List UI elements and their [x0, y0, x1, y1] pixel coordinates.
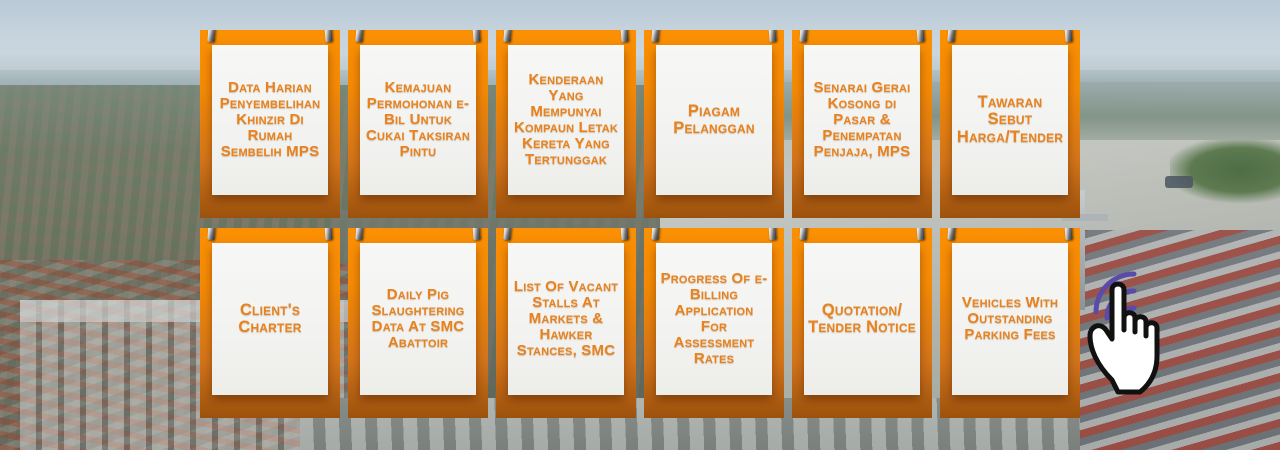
service-card-piagam-pelanggan[interactable]: Piagam Pelanggan [644, 30, 784, 218]
card-title: Tawaran Sebut Harga/Tender [956, 94, 1064, 146]
paper-clip-icon [355, 228, 363, 240]
paper-clip-icon [916, 30, 924, 42]
service-card-tawaran-sebut-harga-tender[interactable]: Tawaran Sebut Harga/Tender [940, 30, 1080, 218]
service-card-clients-charter[interactable]: Client's Charter [200, 228, 340, 418]
paper-clip-icon [1064, 228, 1072, 240]
card-paper: Senarai Gerai Kosong di Pasar & Penempat… [804, 45, 920, 195]
card-paper: Client's Charter [212, 243, 328, 395]
service-card-kemajuan-permohonan-ebil[interactable]: Kemajuan Permohonan e-Bil Untuk Cukai Ta… [348, 30, 488, 218]
paper-clip-icon [947, 228, 955, 240]
paper-clip-icon [768, 30, 776, 42]
card-title: Daily Pig Slaughtering Data At SMC Abatt… [364, 287, 472, 351]
paper-clip-icon [1064, 30, 1072, 42]
card-paper: Piagam Pelanggan [656, 45, 772, 195]
paper-clip-icon [651, 30, 659, 42]
background-boat [1165, 176, 1193, 188]
card-paper: Vehicles With Outstanding Parking Fees [952, 243, 1068, 395]
card-paper: Daily Pig Slaughtering Data At SMC Abatt… [360, 243, 476, 395]
card-title: Piagam Pelanggan [660, 103, 768, 138]
card-paper: Data Harian Penyembelihan Khinzir Di Rum… [212, 45, 328, 195]
service-card-daily-pig-slaughtering-data[interactable]: Daily Pig Slaughtering Data At SMC Abatt… [348, 228, 488, 418]
paper-clip-icon [472, 228, 480, 240]
paper-clip-icon [207, 228, 215, 240]
background-container-port [1060, 230, 1280, 450]
paper-clip-icon [916, 228, 924, 240]
paper-clip-icon [324, 228, 332, 240]
card-paper: Kemajuan Permohonan e-Bil Untuk Cukai Ta… [360, 45, 476, 195]
card-paper: List Of Vacant Stalls At Markets & Hawke… [508, 243, 624, 395]
service-card-kenderaan-kompaun-letak-kereta[interactable]: Kenderaan Yang Mempunyai Kompaun Letak K… [496, 30, 636, 218]
service-card-vehicles-with-outstanding-parking-fees[interactable]: Vehicles With Outstanding Parking Fees [940, 228, 1080, 418]
card-paper: Quotation/ Tender Notice [804, 243, 920, 395]
paper-clip-icon [620, 30, 628, 42]
paper-clip-icon [620, 228, 628, 240]
card-title: Vehicles With Outstanding Parking Fees [956, 295, 1064, 343]
paper-clip-icon [324, 30, 332, 42]
card-title: Progress Of e-Billing Application For As… [660, 271, 768, 366]
card-title: Client's Charter [216, 302, 324, 337]
card-paper: Progress Of e-Billing Application For As… [656, 243, 772, 395]
card-title: Senarai Gerai Kosong di Pasar & Penempat… [808, 80, 916, 159]
card-paper: Tawaran Sebut Harga/Tender [952, 45, 1068, 195]
service-card-data-harian-penyembelihan[interactable]: Data Harian Penyembelihan Khinzir Di Rum… [200, 30, 340, 218]
paper-clip-icon [799, 30, 807, 42]
service-card-senarai-gerai-kosong[interactable]: Senarai Gerai Kosong di Pasar & Penempat… [792, 30, 932, 218]
service-card-list-of-vacant-stalls[interactable]: List Of Vacant Stalls At Markets & Hawke… [496, 228, 636, 418]
card-paper: Kenderaan Yang Mempunyai Kompaun Letak K… [508, 45, 624, 195]
paper-clip-icon [355, 30, 363, 42]
service-card-quotation-tender-notice[interactable]: Quotation/ Tender Notice [792, 228, 932, 418]
paper-clip-icon [799, 228, 807, 240]
service-card-progress-of-ebilling-application[interactable]: Progress Of e-Billing Application For As… [644, 228, 784, 418]
paper-clip-icon [207, 30, 215, 42]
card-title: Kemajuan Permohonan e-Bil Untuk Cukai Ta… [364, 80, 472, 159]
card-title: List Of Vacant Stalls At Markets & Hawke… [512, 279, 620, 358]
card-title: Quotation/ Tender Notice [808, 302, 916, 337]
paper-clip-icon [651, 228, 659, 240]
card-title: Data Harian Penyembelihan Khinzir Di Rum… [216, 80, 324, 159]
paper-clip-icon [472, 30, 480, 42]
card-title: Kenderaan Yang Mempunyai Kompaun Letak K… [512, 72, 620, 167]
paper-clip-icon [768, 228, 776, 240]
background-green-headland [1170, 140, 1280, 210]
paper-clip-icon [503, 30, 511, 42]
paper-clip-icon [947, 30, 955, 42]
service-card-grid: Data Harian Penyembelihan Khinzir Di Rum… [200, 30, 1080, 420]
paper-clip-icon [503, 228, 511, 240]
